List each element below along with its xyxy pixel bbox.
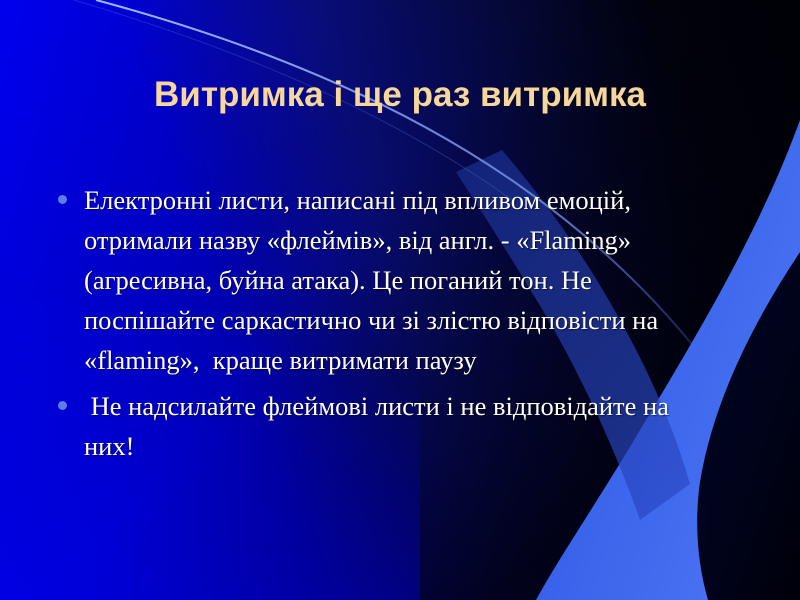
slide-body: Електронні листи, написані під впливом е…: [58, 180, 718, 472]
list-item: Не надсилайте флеймові листи і не відпов…: [58, 386, 718, 466]
presentation-slide: Витримка і ще раз витримка Електронні ли…: [0, 0, 800, 600]
slide-title: Витримка і ще раз витримка: [40, 74, 760, 116]
round-bullet-icon: [58, 180, 84, 204]
slide-content: Витримка і ще раз витримка Електронні ли…: [0, 0, 800, 600]
list-item: Електронні листи, написані під впливом е…: [58, 180, 718, 380]
list-item-text: Електронні листи, написані під впливом е…: [84, 180, 718, 380]
list-item-text: Не надсилайте флеймові листи і не відпов…: [84, 386, 718, 466]
round-bullet-icon: [58, 386, 84, 410]
